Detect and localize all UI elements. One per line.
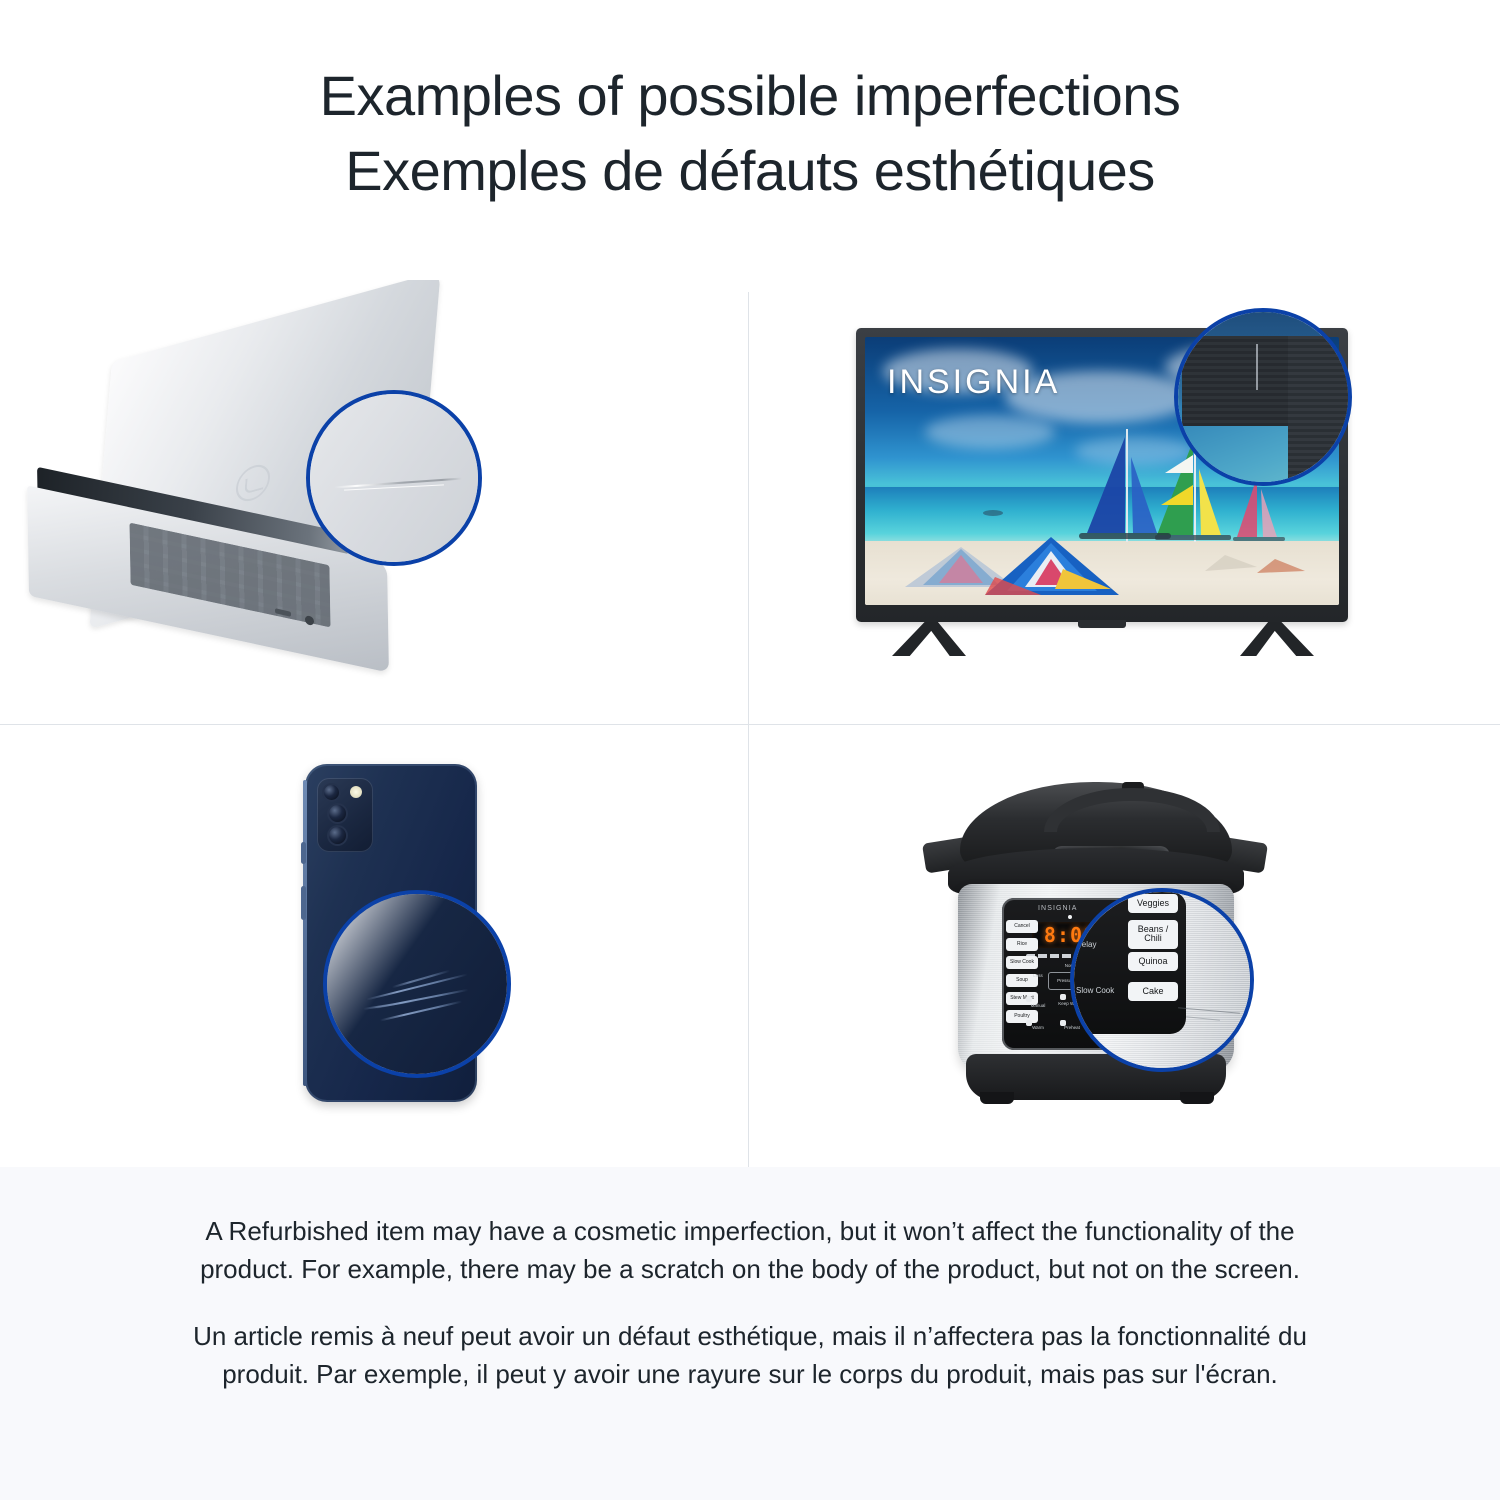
panel-pressure-cooker: INSIGNIA 8:00 Cancel Rice Slow Cook Soup… bbox=[752, 726, 1500, 1170]
camera-lens-icon bbox=[329, 805, 346, 822]
magnified-cooker-button[interactable]: Beans / Chili bbox=[1128, 920, 1178, 949]
cooker-indicator-key[interactable] bbox=[1026, 996, 1032, 1002]
cooker-indicator-key[interactable] bbox=[1026, 1020, 1032, 1026]
grid-vertical-divider bbox=[748, 292, 749, 1167]
cooker-button[interactable]: Rice bbox=[1006, 938, 1038, 951]
tv-stand-left bbox=[892, 622, 966, 656]
phone-camera-module bbox=[317, 778, 373, 852]
caption-english: A Refurbished item may have a cosmetic i… bbox=[180, 1213, 1320, 1288]
magnifier-circle-cooker: Veggies Beans / Chili Quinoa Cake Delay … bbox=[1070, 888, 1254, 1072]
cooker-warm-label[interactable]: Warm bbox=[1024, 1026, 1052, 1031]
magnified-cooker-button[interactable]: Quinoa bbox=[1128, 952, 1178, 971]
magnifier-circle-tv bbox=[1174, 308, 1352, 486]
magnifier-circle-laptop bbox=[306, 390, 482, 566]
cooker-indicator-key[interactable] bbox=[1060, 1020, 1066, 1026]
refurbished-imperfections-infographic: Examples of possible imperfections Exemp… bbox=[0, 0, 1500, 1500]
camera-lens-icon bbox=[329, 827, 346, 844]
caption-french: Un article remis à neuf peut avoir un dé… bbox=[180, 1318, 1320, 1393]
cooker-illustration: INSIGNIA 8:00 Cancel Rice Slow Cook Soup… bbox=[924, 748, 1324, 1148]
tv-stand-right bbox=[1240, 622, 1314, 656]
laptop-illustration bbox=[10, 310, 530, 690]
camera-lens-icon bbox=[324, 785, 339, 800]
panel-television: INSIGNIA bbox=[752, 280, 1500, 724]
cooker-manual-label[interactable]: Manual bbox=[1024, 1004, 1052, 1009]
magnified-bezel-corner bbox=[1288, 336, 1352, 486]
cooker-foot-right bbox=[1180, 1092, 1214, 1104]
panel-laptop bbox=[0, 280, 748, 724]
phone-volume-button bbox=[301, 842, 306, 864]
cooker-indicator-key[interactable] bbox=[1060, 994, 1066, 1000]
page-title: Examples of possible imperfections Exemp… bbox=[0, 58, 1500, 208]
status-indicator-led bbox=[1068, 915, 1072, 919]
grid-horizontal-divider bbox=[0, 724, 1500, 725]
cooker-foot-left bbox=[980, 1092, 1014, 1104]
tv-screen-brand-logo: INSIGNIA bbox=[887, 363, 1060, 402]
title-line-english: Examples of possible imperfections bbox=[0, 58, 1500, 133]
caption-section: A Refurbished item may have a cosmetic i… bbox=[0, 1167, 1500, 1500]
cooker-scale-label-less: Less bbox=[1024, 974, 1052, 979]
magnified-cooker-button[interactable]: Cake bbox=[1128, 982, 1178, 1001]
cooker-button[interactable]: Cancel bbox=[1006, 920, 1038, 933]
tv-illustration: INSIGNIA bbox=[856, 308, 1356, 688]
phone-power-button bbox=[301, 886, 306, 920]
cooker-brand-label: INSIGNIA bbox=[1038, 905, 1078, 912]
magnified-cooker-button[interactable]: Veggies bbox=[1128, 894, 1178, 913]
magnified-phone-back bbox=[327, 894, 507, 1074]
magnified-side-label-slow-cook: Slow Cook bbox=[1076, 986, 1114, 995]
magnifier-circle-phone bbox=[323, 890, 511, 1078]
scuff-mark-icon bbox=[1256, 344, 1258, 390]
examples-grid: INSIGNIA bbox=[0, 280, 1500, 1167]
phone-side-rail bbox=[303, 780, 307, 1086]
phone-illustration bbox=[255, 764, 535, 1134]
camera-flash-icon bbox=[350, 786, 362, 798]
magnified-side-label-delay: Delay bbox=[1076, 940, 1096, 949]
cooker-lid-handle bbox=[1044, 788, 1220, 832]
tv-front-badge bbox=[1078, 620, 1126, 628]
panel-smartphone bbox=[0, 726, 748, 1170]
title-line-french: Exemples de défauts esthétiques bbox=[0, 133, 1500, 208]
